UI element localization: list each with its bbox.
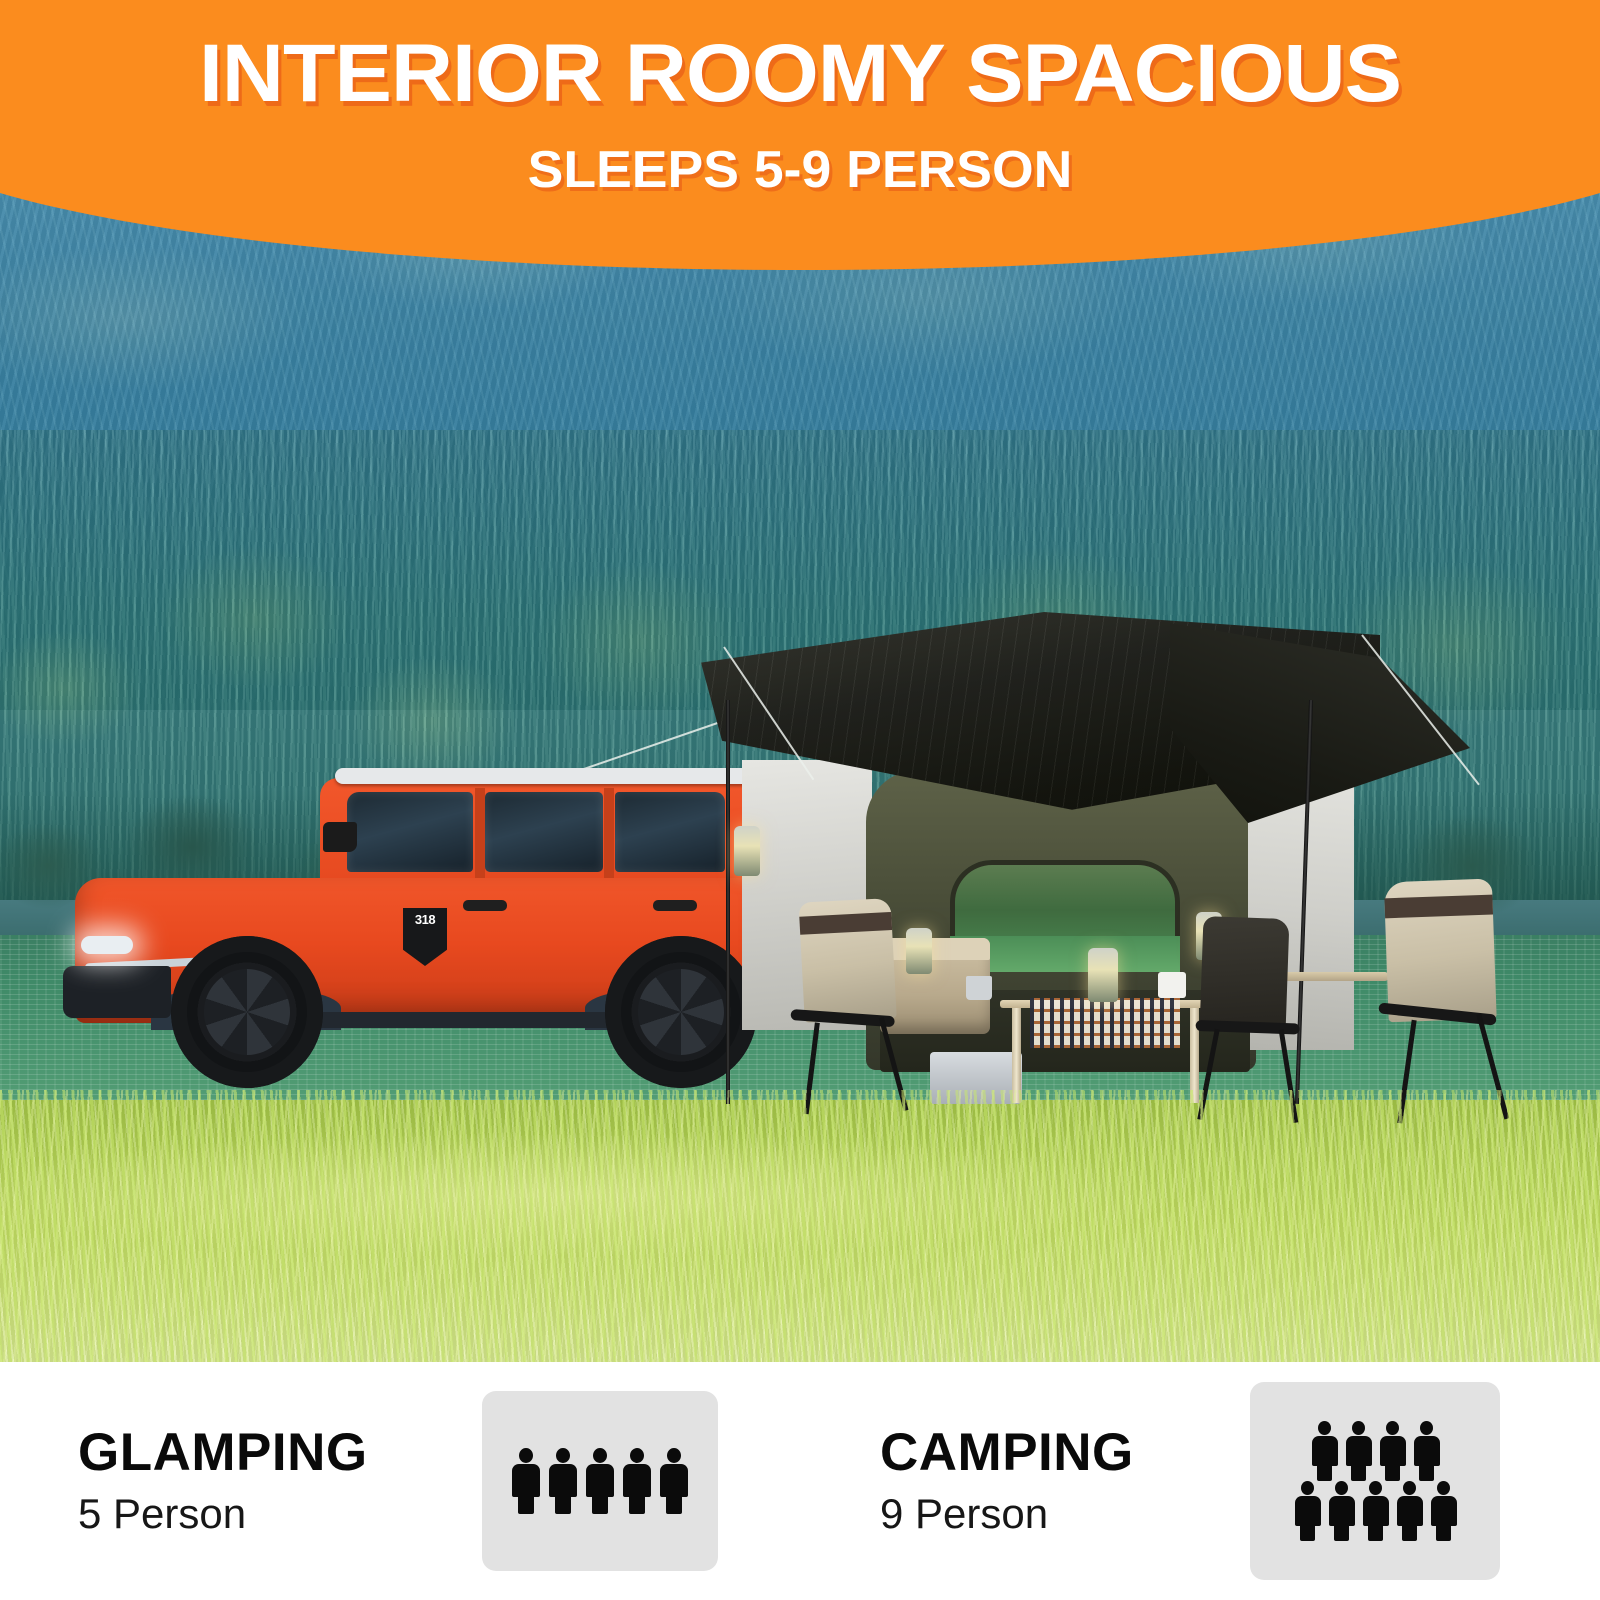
suv-headlight: [81, 936, 133, 954]
grass-sun-glow: [0, 1135, 1600, 1255]
camping-title: CAMPING: [880, 1422, 1134, 1484]
storage-case: [930, 1052, 1022, 1104]
kettle: [1158, 972, 1186, 998]
chair-leg-rear: [1279, 1029, 1299, 1123]
suv-rear-window: [615, 792, 725, 872]
camping-people-group-icon: [1294, 1421, 1457, 1541]
awning-pole-left: [726, 700, 730, 1104]
suv-front-window: [347, 792, 473, 872]
page-title: INTERIOR ROOMY SPACIOUS: [0, 28, 1600, 120]
person-icon: [511, 1448, 541, 1514]
suv-front-door-handle: [463, 900, 507, 911]
camp-chair-right: [1374, 877, 1532, 1122]
suv-rear-rim: [638, 969, 724, 1055]
person-icon: [1345, 1421, 1372, 1481]
person-icon: [1379, 1421, 1406, 1481]
person-icon: [1362, 1481, 1389, 1541]
page-subtitle: SLEEPS 5-9 PERSON: [0, 140, 1600, 200]
person-icon: [1294, 1481, 1321, 1541]
person-icon: [659, 1448, 689, 1514]
person-icon: [1311, 1421, 1338, 1481]
glamping-title: GLAMPING: [78, 1422, 368, 1484]
capacity-footer: GLAMPING 5 Person CAMPING 9 Pers: [0, 1362, 1600, 1600]
glamping-capacity-icon-box: [482, 1391, 718, 1571]
glamping-text-block: GLAMPING 5 Person: [78, 1422, 368, 1540]
lantern-center-icon: [1088, 948, 1118, 1002]
suv-front-wheel: [171, 936, 323, 1088]
chair-leg-rear: [1476, 1014, 1509, 1120]
glamping-people-group-icon: [511, 1448, 689, 1514]
camp-table-leg-left: [1012, 1008, 1021, 1103]
person-row-bottom: [1294, 1481, 1457, 1541]
person-icon: [622, 1448, 652, 1514]
header-banner-content: INTERIOR ROOMY SPACIOUS SLEEPS 5-9 PERSO…: [0, 0, 1600, 270]
chair-leg-front: [1197, 1029, 1219, 1120]
camp-chair-left: [785, 897, 926, 1114]
lantern-hanging-icon: [734, 826, 760, 876]
chair-leg-front: [1397, 1020, 1416, 1124]
table-runner: [1030, 998, 1180, 1048]
person-icon: [548, 1448, 578, 1514]
suv-front-rim: [204, 969, 290, 1055]
suv-badge-number: 318: [406, 912, 444, 928]
header-banner: INTERIOR ROOMY SPACIOUS SLEEPS 5-9 PERSO…: [0, 0, 1600, 270]
chair-leg-front: [804, 1022, 820, 1114]
person-icon: [1413, 1421, 1440, 1481]
person-icon: [1430, 1481, 1457, 1541]
orange-suv: 318: [55, 760, 775, 1090]
person-row-top: [1311, 1421, 1440, 1481]
chair-leg-rear: [879, 1017, 909, 1111]
suv-rear-door-handle: [653, 900, 697, 911]
person-row: [511, 1448, 689, 1514]
person-icon: [1396, 1481, 1423, 1541]
camping-panel: CAMPING 9 Person: [790, 1362, 1600, 1600]
chair-headrest-band: [1384, 895, 1493, 919]
suv-front-bumper: [63, 966, 171, 1018]
metal-cup: [966, 976, 992, 1000]
suv-side-mirror: [323, 822, 357, 852]
glamping-panel: GLAMPING 5 Person: [0, 1362, 790, 1600]
suv-c-pillar: [604, 788, 614, 878]
person-icon: [1328, 1481, 1355, 1541]
camping-subtitle: 9 Person: [880, 1488, 1134, 1540]
camp-chair-middle: [1189, 916, 1324, 1120]
glamping-subtitle: 5 Person: [78, 1488, 368, 1540]
person-icon: [585, 1448, 615, 1514]
suv-rocker-panel: [305, 1012, 635, 1028]
camping-capacity-icon-box: [1250, 1382, 1500, 1580]
suv-roof-rail: [335, 768, 750, 784]
suv-rear-wheel: [605, 936, 757, 1088]
product-feature-graphic: 318: [0, 0, 1600, 1600]
suv-b-pillar: [475, 788, 485, 878]
suv-middle-window: [485, 792, 603, 872]
chair-seatback: [1200, 916, 1290, 1029]
camping-text-block: CAMPING 9 Person: [880, 1422, 1134, 1540]
